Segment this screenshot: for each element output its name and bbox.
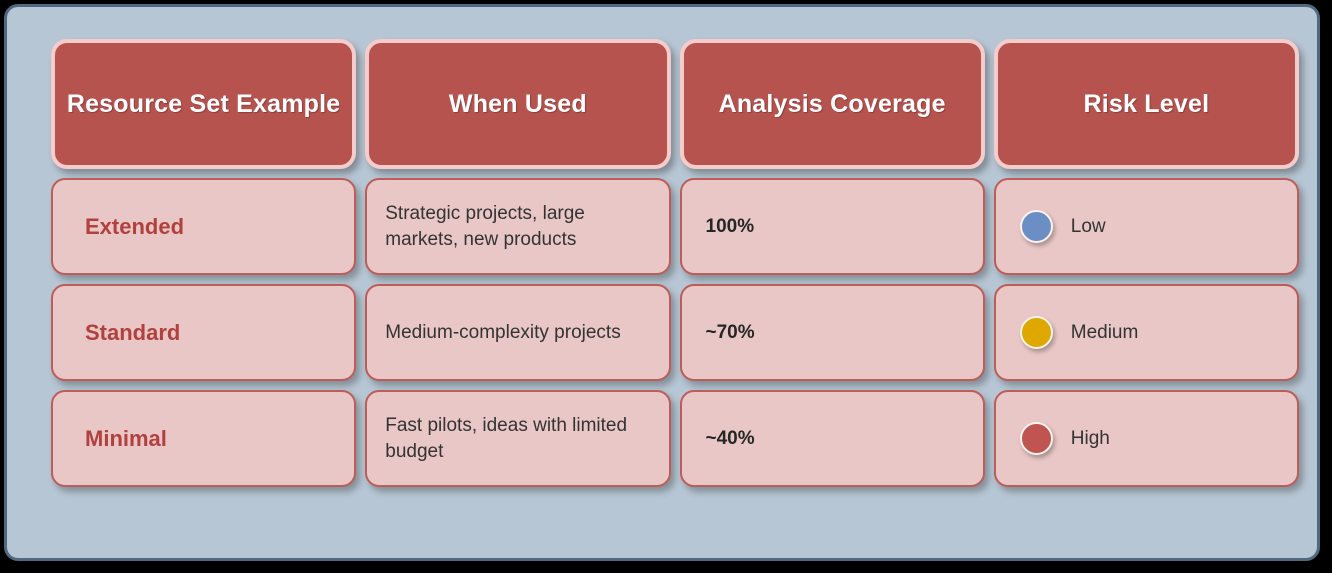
cell-risk-level[interactable]: Medium (994, 284, 1299, 381)
header-label: Resource Set Example (67, 90, 341, 119)
risk-dot-medium-icon (1020, 316, 1053, 349)
cell-resource-set[interactable]: Standard (51, 284, 356, 381)
header-cell-when-used[interactable]: When Used (365, 39, 670, 169)
cell-resource-set[interactable]: Minimal (51, 390, 356, 487)
when-used-text: Medium-complexity projects (385, 320, 620, 346)
cell-when-used[interactable]: Strategic projects, large markets, new p… (365, 178, 670, 275)
header-label: Risk Level (1084, 90, 1210, 119)
cell-when-used[interactable]: Fast pilots, ideas with limited budget (365, 390, 670, 487)
header-label: When Used (449, 90, 587, 119)
table-header-row: Resource Set Example When Used Analysis … (51, 39, 1299, 169)
risk-dot-low-icon (1020, 210, 1053, 243)
table-row: Extended Strategic projects, large marke… (51, 178, 1299, 275)
table-row: Standard Medium-complexity projects ~70%… (51, 284, 1299, 381)
resource-set-label: Standard (71, 320, 180, 346)
comparison-table: Resource Set Example When Used Analysis … (51, 39, 1299, 487)
when-used-text: Fast pilots, ideas with limited budget (385, 413, 650, 464)
risk-badge: High (1014, 422, 1110, 455)
risk-label: Medium (1071, 322, 1139, 344)
analysis-coverage-value: ~70% (700, 322, 755, 344)
header-cell-risk-level[interactable]: Risk Level (994, 39, 1299, 169)
cell-risk-level[interactable]: High (994, 390, 1299, 487)
cell-when-used[interactable]: Medium-complexity projects (365, 284, 670, 381)
resource-set-label: Extended (71, 214, 184, 240)
cell-resource-set[interactable]: Extended (51, 178, 356, 275)
header-cell-analysis-coverage[interactable]: Analysis Coverage (680, 39, 985, 169)
cell-analysis-coverage[interactable]: ~70% (680, 284, 985, 381)
cell-analysis-coverage[interactable]: 100% (680, 178, 985, 275)
header-cell-resource-set[interactable]: Resource Set Example (51, 39, 356, 169)
risk-label: High (1071, 428, 1110, 450)
header-label: Analysis Coverage (719, 90, 946, 119)
risk-label: Low (1071, 216, 1106, 238)
analysis-coverage-value: 100% (700, 216, 755, 238)
risk-badge: Low (1014, 210, 1106, 243)
slide-canvas: Resource Set Example When Used Analysis … (4, 4, 1320, 561)
when-used-text: Strategic projects, large markets, new p… (385, 201, 650, 252)
resource-set-label: Minimal (71, 426, 167, 452)
cell-risk-level[interactable]: Low (994, 178, 1299, 275)
analysis-coverage-value: ~40% (700, 428, 755, 450)
table-row: Minimal Fast pilots, ideas with limited … (51, 390, 1299, 487)
risk-dot-high-icon (1020, 422, 1053, 455)
risk-badge: Medium (1014, 316, 1139, 349)
cell-analysis-coverage[interactable]: ~40% (680, 390, 985, 487)
